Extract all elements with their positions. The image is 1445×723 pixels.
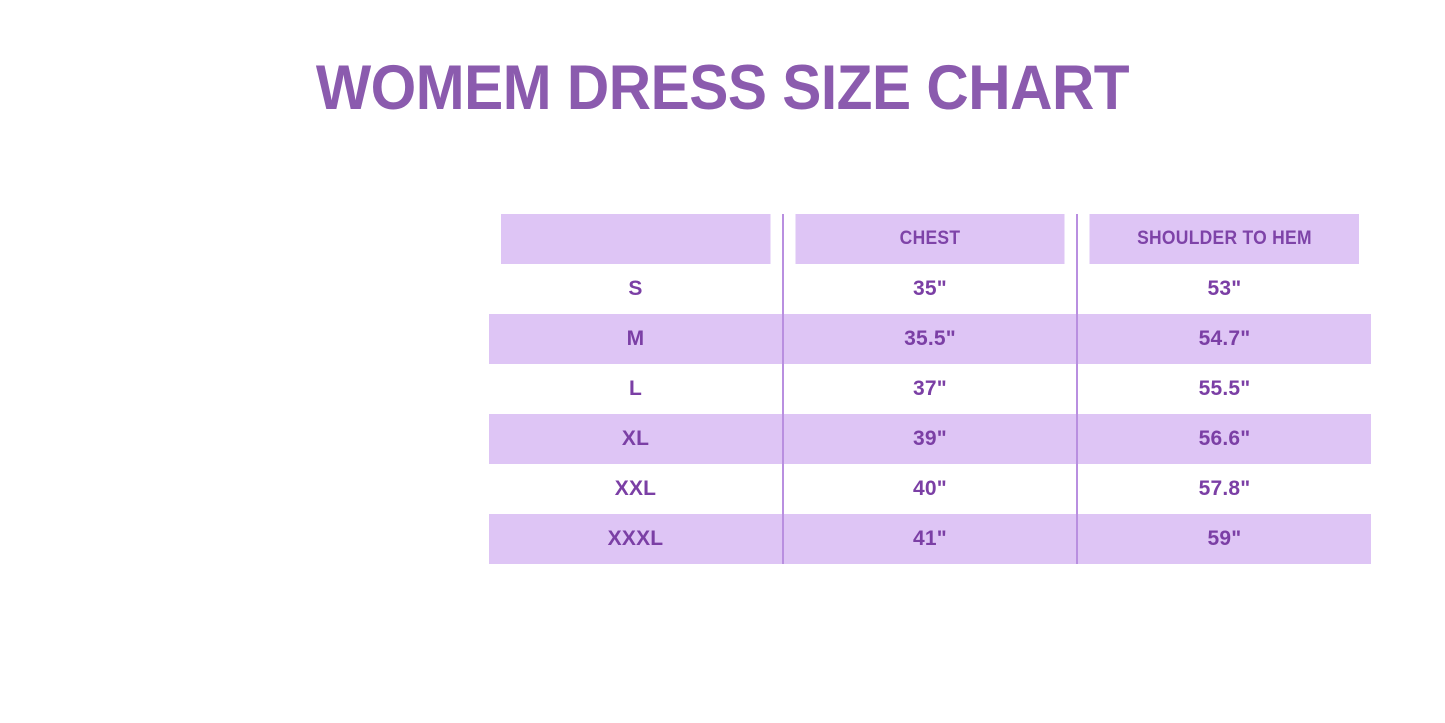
cell-size: XXXL	[489, 514, 783, 564]
cell-chest: 40"	[783, 464, 1077, 514]
cell-shoulder-to-hem: 55.5"	[1077, 364, 1371, 414]
cell-chest: 35"	[783, 264, 1077, 314]
size-chart-container: CHEST SHOULDER TO HEM S 35" 53" M 35.5" …	[489, 214, 1371, 566]
cell-size: XXL	[489, 464, 783, 514]
cell-chest: 35.5"	[783, 314, 1077, 364]
table-row: XXXL 41" 59"	[489, 514, 1371, 564]
column-header-size	[501, 214, 771, 264]
cell-size: L	[489, 364, 783, 414]
cell-size: S	[489, 264, 783, 314]
page-title: WOMEM DRESS SIZE CHART	[51, 52, 1395, 124]
table-header: CHEST SHOULDER TO HEM	[489, 214, 1371, 264]
table-header-row: CHEST SHOULDER TO HEM	[489, 214, 1371, 264]
cell-chest: 41"	[783, 514, 1077, 564]
cell-size: XL	[489, 414, 783, 464]
size-chart-table: CHEST SHOULDER TO HEM S 35" 53" M 35.5" …	[489, 214, 1371, 564]
table-row: S 35" 53"	[489, 264, 1371, 314]
cell-shoulder-to-hem: 59"	[1077, 514, 1371, 564]
table-row: L 37" 55.5"	[489, 364, 1371, 414]
table-row: XXL 40" 57.8"	[489, 464, 1371, 514]
cell-chest: 37"	[783, 364, 1077, 414]
table-row: M 35.5" 54.7"	[489, 314, 1371, 364]
column-header-shoulder-to-hem: SHOULDER TO HEM	[1089, 214, 1359, 264]
cell-shoulder-to-hem: 53"	[1077, 264, 1371, 314]
table-body: S 35" 53" M 35.5" 54.7" L 37" 55.5" XL 3…	[489, 264, 1371, 564]
cell-chest: 39"	[783, 414, 1077, 464]
column-header-chest: CHEST	[795, 214, 1065, 264]
cell-shoulder-to-hem: 56.6"	[1077, 414, 1371, 464]
cell-size: M	[489, 314, 783, 364]
cell-shoulder-to-hem: 57.8"	[1077, 464, 1371, 514]
cell-shoulder-to-hem: 54.7"	[1077, 314, 1371, 364]
table-row: XL 39" 56.6"	[489, 414, 1371, 464]
